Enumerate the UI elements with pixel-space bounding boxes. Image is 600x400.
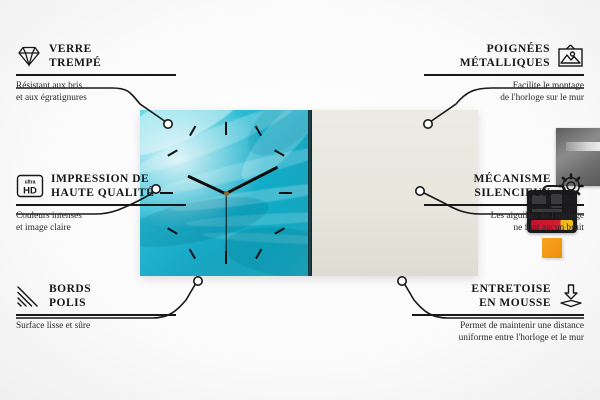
connector-dot	[194, 277, 202, 285]
callout-title: VERRETREMPÉ	[16, 42, 176, 70]
callout-description: Les aiguilles de l'horlogene font aucun …	[424, 210, 584, 235]
callout-mecanisme-silencieux[interactable]: MÉCANISMESILENCIEUX Les aiguilles de l'h…	[424, 172, 584, 234]
callout-divider	[412, 314, 584, 316]
callout-impression-haute-qualite[interactable]: ultra HD IMPRESSION DEHAUTE QUALITÉ Coul…	[16, 172, 186, 234]
clock-tick	[279, 192, 292, 194]
infographic-canvas: VERRETREMPÉ Résistant aux briset aux égr…	[0, 0, 600, 400]
callout-divider	[424, 204, 584, 206]
callout-title-text: MÉCANISMESILENCIEUX	[474, 172, 551, 200]
callout-title-text: VERRETREMPÉ	[49, 42, 101, 70]
callout-title-text: IMPRESSION DEHAUTE QUALITÉ	[51, 172, 154, 200]
callout-description: Surface lisse et sûre	[16, 320, 176, 332]
svg-text:HD: HD	[23, 186, 37, 197]
foam-spacer-icon	[558, 284, 584, 308]
callout-title: BORDSPOLIS	[16, 282, 176, 310]
callout-title: ENTRETOISEEN MOUSSE	[412, 282, 584, 310]
callout-title: MÉCANISMESILENCIEUX	[424, 172, 584, 200]
callout-divider	[424, 74, 584, 76]
handle-slot	[566, 142, 600, 151]
callout-title-text: POIGNÉESMÉTALLIQUES	[460, 42, 550, 70]
callout-title: ultra HD IMPRESSION DEHAUTE QUALITÉ	[16, 172, 186, 200]
diamond-icon	[16, 45, 42, 67]
polished-edge-icon	[16, 285, 42, 307]
callout-bords-polis[interactable]: BORDSPOLIS Surface lisse et sûre	[16, 282, 176, 332]
clock-tick	[225, 122, 227, 135]
callout-divider	[16, 314, 176, 316]
callout-description: Permet de maintenir une distanceuniforme…	[412, 320, 584, 345]
callout-divider	[16, 204, 186, 206]
callout-title-text: ENTRETOISEEN MOUSSE	[471, 282, 551, 310]
callout-title-text: BORDSPOLIS	[49, 282, 91, 310]
gear-icon	[558, 173, 584, 199]
connector-dot	[398, 277, 406, 285]
foam-spacer-part	[542, 238, 562, 258]
callout-divider	[16, 74, 176, 76]
picture-frame-icon	[557, 44, 584, 68]
glass-edge	[308, 110, 312, 276]
clock-hub	[224, 191, 229, 196]
callout-description: Couleurs intenseset image claire	[16, 210, 186, 235]
callout-verre-trempe[interactable]: VERRETREMPÉ Résistant aux briset aux égr…	[16, 42, 176, 104]
callout-title: POIGNÉESMÉTALLIQUES	[424, 42, 584, 70]
callout-description: Facilite le montagede l'horloge sur le m…	[424, 80, 584, 105]
clock-second-hand	[225, 193, 226, 253]
ultra-hd-icon: ultra HD	[16, 174, 44, 198]
callout-entretoise-en-mousse[interactable]: ENTRETOISEEN MOUSSE Permet de maintenir …	[412, 282, 584, 344]
callout-description: Résistant aux briset aux égratignures	[16, 80, 176, 105]
clock-tick	[189, 249, 196, 259]
callout-poignees-metalliques[interactable]: POIGNÉESMÉTALLIQUES Facilite le montaged…	[424, 42, 584, 104]
